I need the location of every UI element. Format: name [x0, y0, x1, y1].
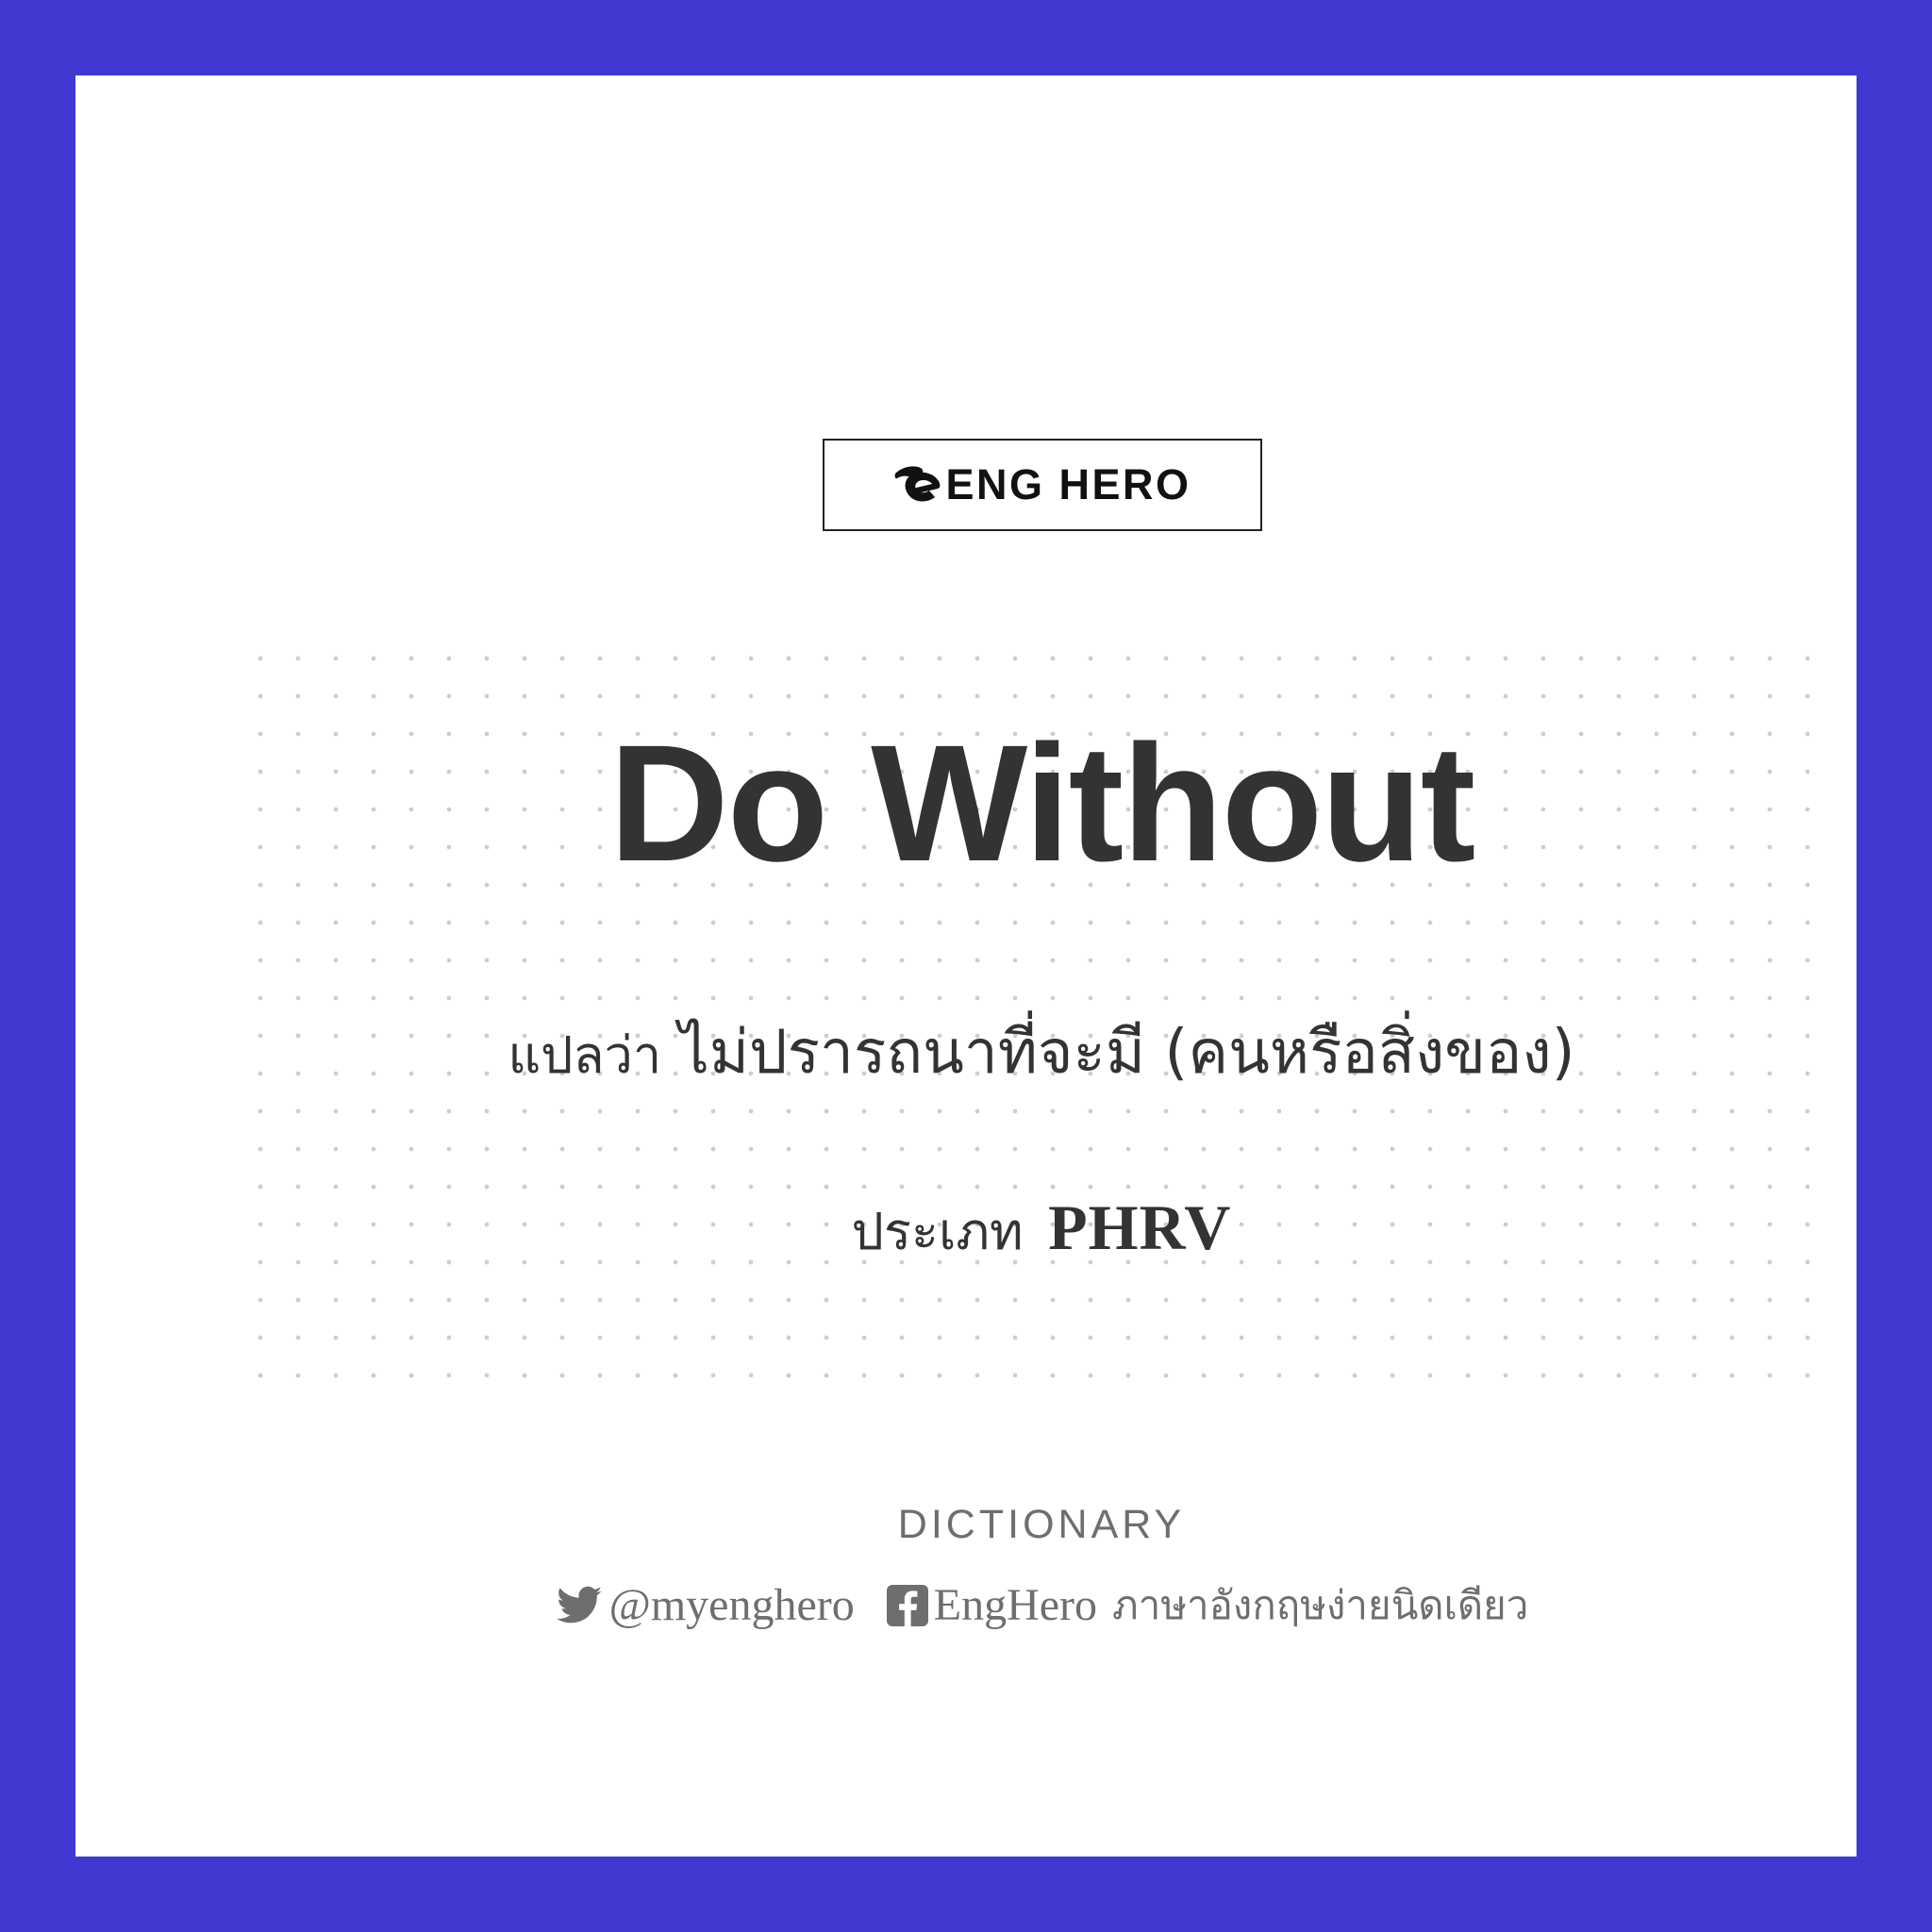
dictionary-card: ENG HERO Do Without แปลว่า ไม่ปรารถนาที่… [0, 0, 1932, 1932]
footer-social-row: @myenghero EngHero ภาษาอังกฤษง่ายนิดเดีย… [151, 1583, 1932, 1628]
part-of-speech-value: PHRV [1048, 1191, 1231, 1263]
meaning-value: ไม่ปรารถนาที่จะมี (คนหรือสิ่งของ) [679, 1018, 1575, 1088]
facebook-tagline: ภาษาอังกฤษง่ายนิดเดียว [1112, 1586, 1528, 1625]
twitter-icon [555, 1584, 604, 1627]
twitter-handle: @myenghero [609, 1583, 855, 1628]
entry-part-of-speech-row: ประเภท PHRV [151, 1191, 1932, 1264]
social-item-twitter[interactable]: @myenghero [555, 1583, 855, 1628]
footer-caption: DICTIONARY [151, 1502, 1932, 1548]
hero-e-cape-icon [893, 461, 948, 507]
brand-logo-inner: ENG HERO [893, 461, 1191, 507]
meaning-label: แปลว่า [508, 1025, 661, 1085]
facebook-handle: EngHero [934, 1583, 1097, 1628]
entry-headline: Do Without [151, 717, 1932, 891]
brand-logo-text: ENG HERO [945, 463, 1191, 506]
social-item-facebook[interactable]: EngHero ภาษาอังกฤษง่ายนิดเดียว [887, 1583, 1529, 1628]
facebook-icon [887, 1585, 928, 1626]
card-inner-surface: ENG HERO Do Without แปลว่า ไม่ปรารถนาที่… [75, 75, 1857, 1857]
brand-logo-box[interactable]: ENG HERO [823, 439, 1262, 531]
part-of-speech-label: ประเภท [852, 1202, 1024, 1261]
entry-meaning-row: แปลว่า ไม่ปรารถนาที่จะมี (คนหรือสิ่งของ) [151, 1019, 1932, 1089]
